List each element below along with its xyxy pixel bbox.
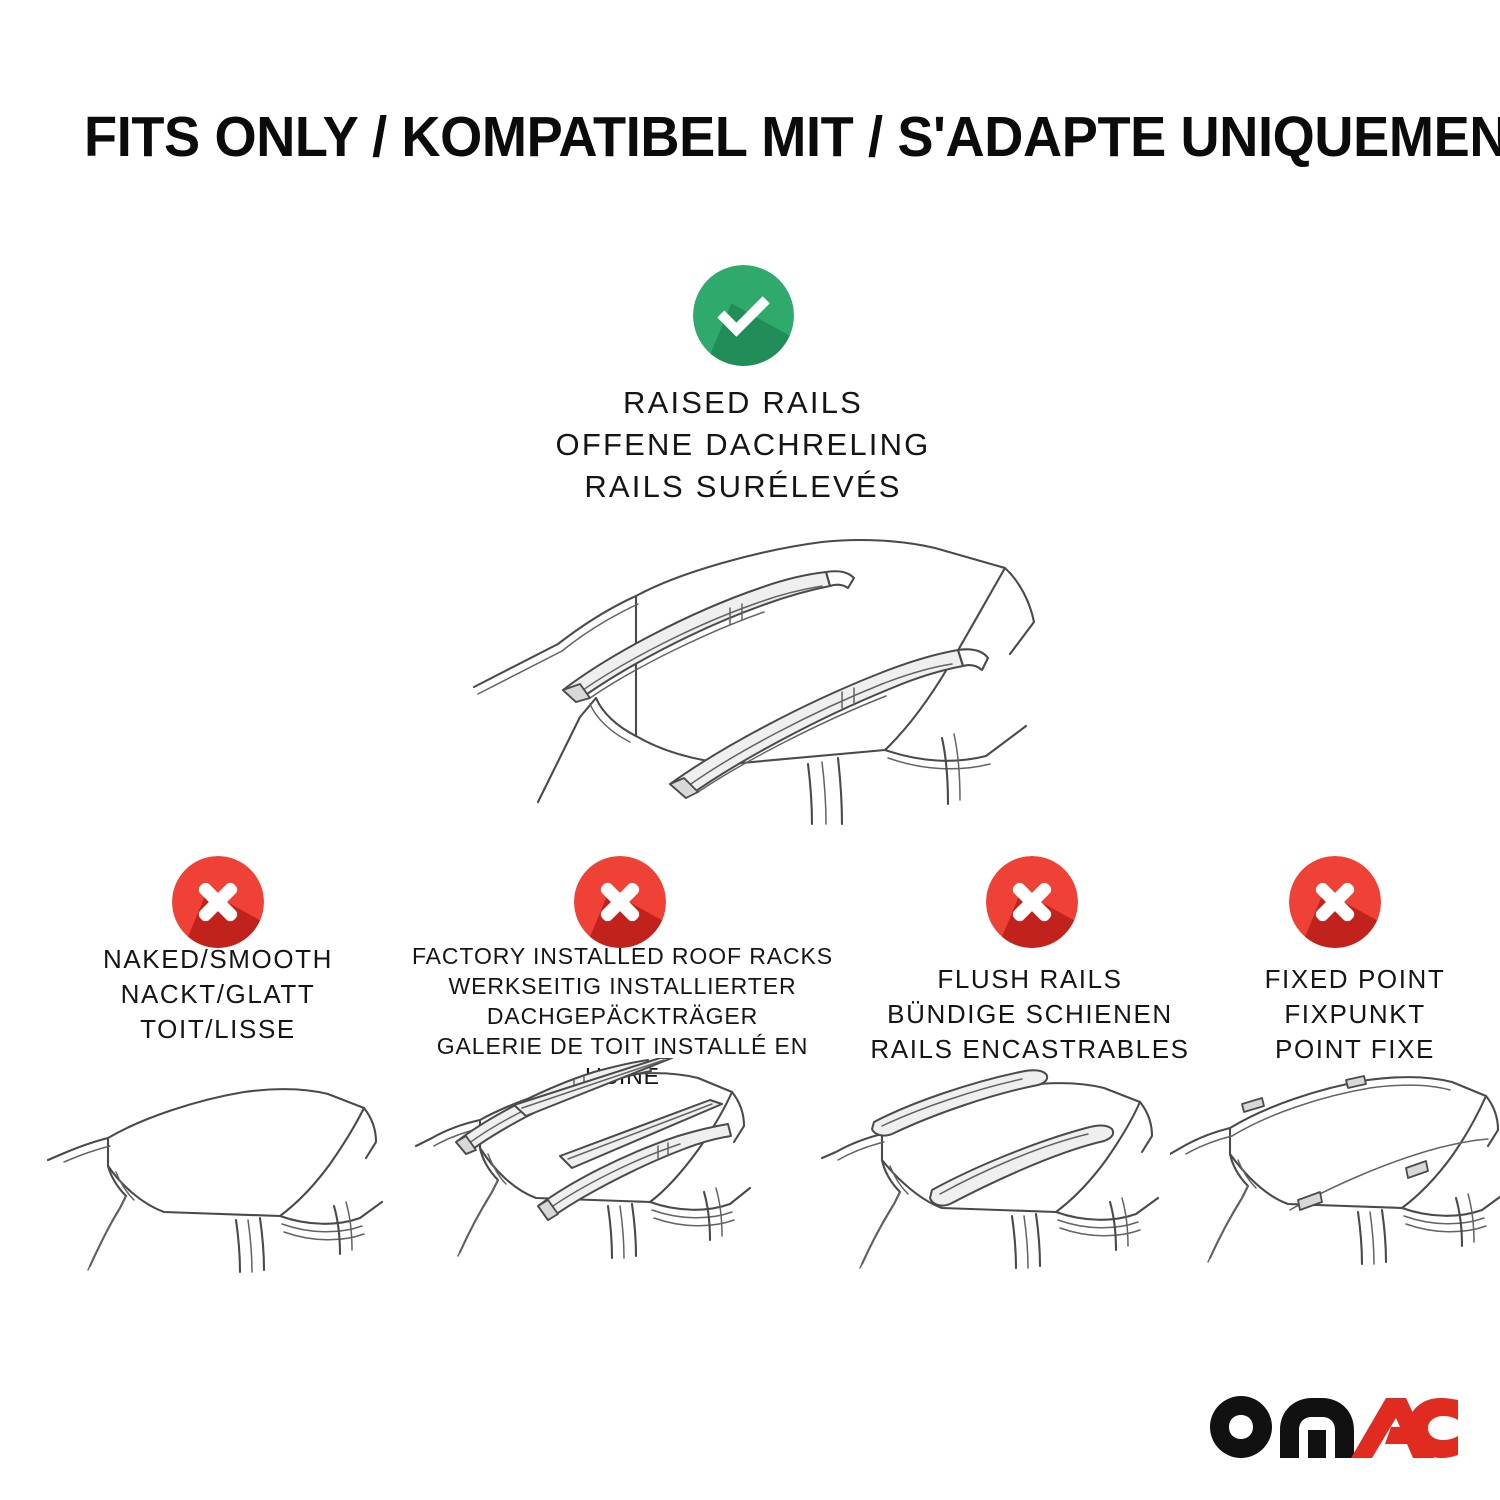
page-title: FITS ONLY / KOMPATIBEL MIT / S'ADAPTE UN… <box>84 108 1357 168</box>
compatible-label: RAISED RAILS OFFENE DACHRELING RAILS SUR… <box>443 382 1043 508</box>
cross-circle-icon <box>172 856 264 948</box>
car-roof-naked-smooth-diagram <box>46 1062 391 1297</box>
check-glyph <box>693 265 794 366</box>
car-roof-flush-rails-diagram <box>820 1062 1170 1297</box>
cross-glyph <box>574 856 666 948</box>
incompatible-label-naked-smooth: NAKED/SMOOTH NACKT/GLATT TOIT/LISSE <box>48 942 388 1046</box>
cross-circle-icon <box>986 856 1078 948</box>
car-roof-raised-rails-diagram <box>430 512 1080 827</box>
omac-logo-wordmark <box>1210 1396 1458 1458</box>
car-roof-fixed-point-diagram <box>1170 1062 1500 1297</box>
car-roof-factory-roof-racks-diagram <box>410 1058 760 1298</box>
cross-circle-icon <box>574 856 666 948</box>
cross-glyph <box>1289 856 1381 948</box>
check-circle-icon <box>693 265 794 366</box>
cross-circle-icon <box>1289 856 1381 948</box>
omac-logo <box>1210 1396 1458 1458</box>
cross-glyph <box>986 856 1078 948</box>
incompatible-label-flush-rails: FLUSH RAILS BÜNDIGE SCHIENEN RAILS ENCAS… <box>855 962 1205 1066</box>
incompatible-label-fixed-point: FIXED POINT FIXPUNKT POINT FIXE <box>1215 962 1495 1066</box>
cross-glyph <box>172 856 264 948</box>
